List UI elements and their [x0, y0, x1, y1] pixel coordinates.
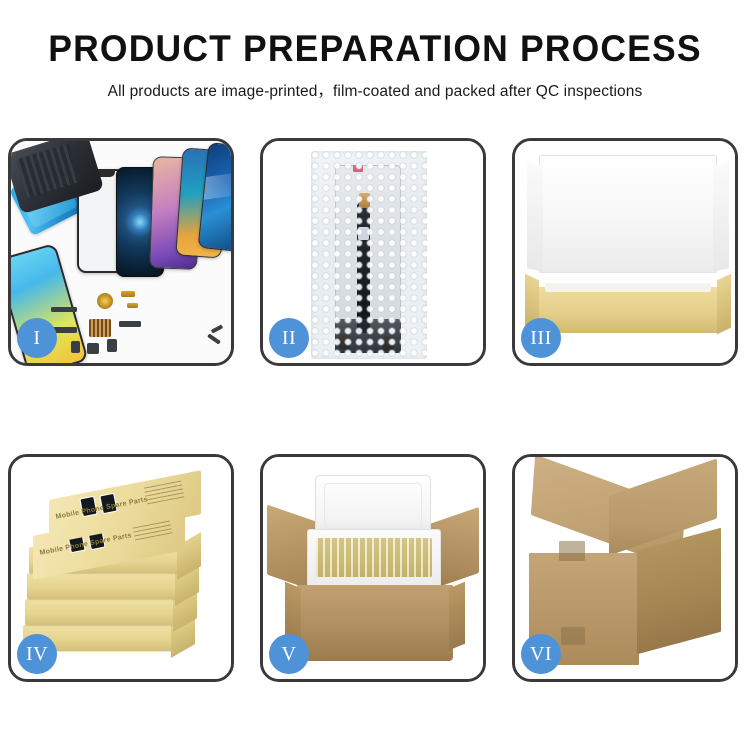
foam-box-lid [315, 475, 431, 537]
chip-module-part [89, 319, 111, 337]
process-step-4[interactable]: Mobile Phone Spare Parts Mobile Phone Sp… [8, 454, 234, 682]
step-badge-4: IV [17, 634, 57, 674]
process-step-1[interactable]: I [8, 138, 234, 366]
camera-module-part [71, 341, 80, 353]
page-title: PRODUCT PREPARATION PROCESS [15, 30, 735, 69]
gold-bracket-part [127, 303, 138, 308]
process-step-2[interactable]: II [260, 138, 486, 366]
process-step-6[interactable]: VI [512, 454, 738, 682]
gold-connector-part [121, 291, 135, 297]
header: PRODUCT PREPARATION PROCESS All products… [0, 0, 750, 101]
screw-part [207, 333, 221, 344]
speaker-part [87, 343, 99, 354]
retail-box-bottom-4 [25, 599, 177, 625]
product-preparation-infographic: PRODUCT PREPARATION PROCESS All products… [0, 0, 750, 750]
flex-cable-part-1 [51, 307, 77, 312]
process-step-3[interactable]: III [512, 138, 738, 366]
carton-side-face [637, 528, 721, 655]
foam-box-body [307, 529, 441, 587]
carton-tape-upper [559, 541, 585, 561]
step-badge-6: VI [521, 634, 561, 674]
carton-body [297, 585, 453, 661]
carton-tape-lower [561, 627, 585, 645]
vibration-motor-part [97, 293, 113, 309]
retail-box-bottom-3 [27, 573, 179, 599]
step-badge-2: II [269, 318, 309, 358]
process-steps-grid: I II [8, 138, 742, 683]
tool-tweezer-part [211, 324, 223, 333]
page-subtitle: All products are image-printed，film-coat… [0, 79, 750, 101]
packed-retail-boxes [316, 538, 432, 577]
bubble-texture [311, 151, 427, 359]
kraft-box-base [535, 287, 721, 333]
white-box-lid [539, 155, 717, 273]
ribbon-cable-part [119, 321, 141, 327]
bubble-wrap-bag [311, 151, 427, 359]
battery-connector-part [107, 339, 117, 352]
box-inner-lip [545, 283, 711, 292]
step-badge-3: III [521, 318, 561, 358]
step-badge-1: I [17, 318, 57, 358]
process-step-5[interactable]: V [260, 454, 486, 682]
step-badge-5: V [269, 634, 309, 674]
